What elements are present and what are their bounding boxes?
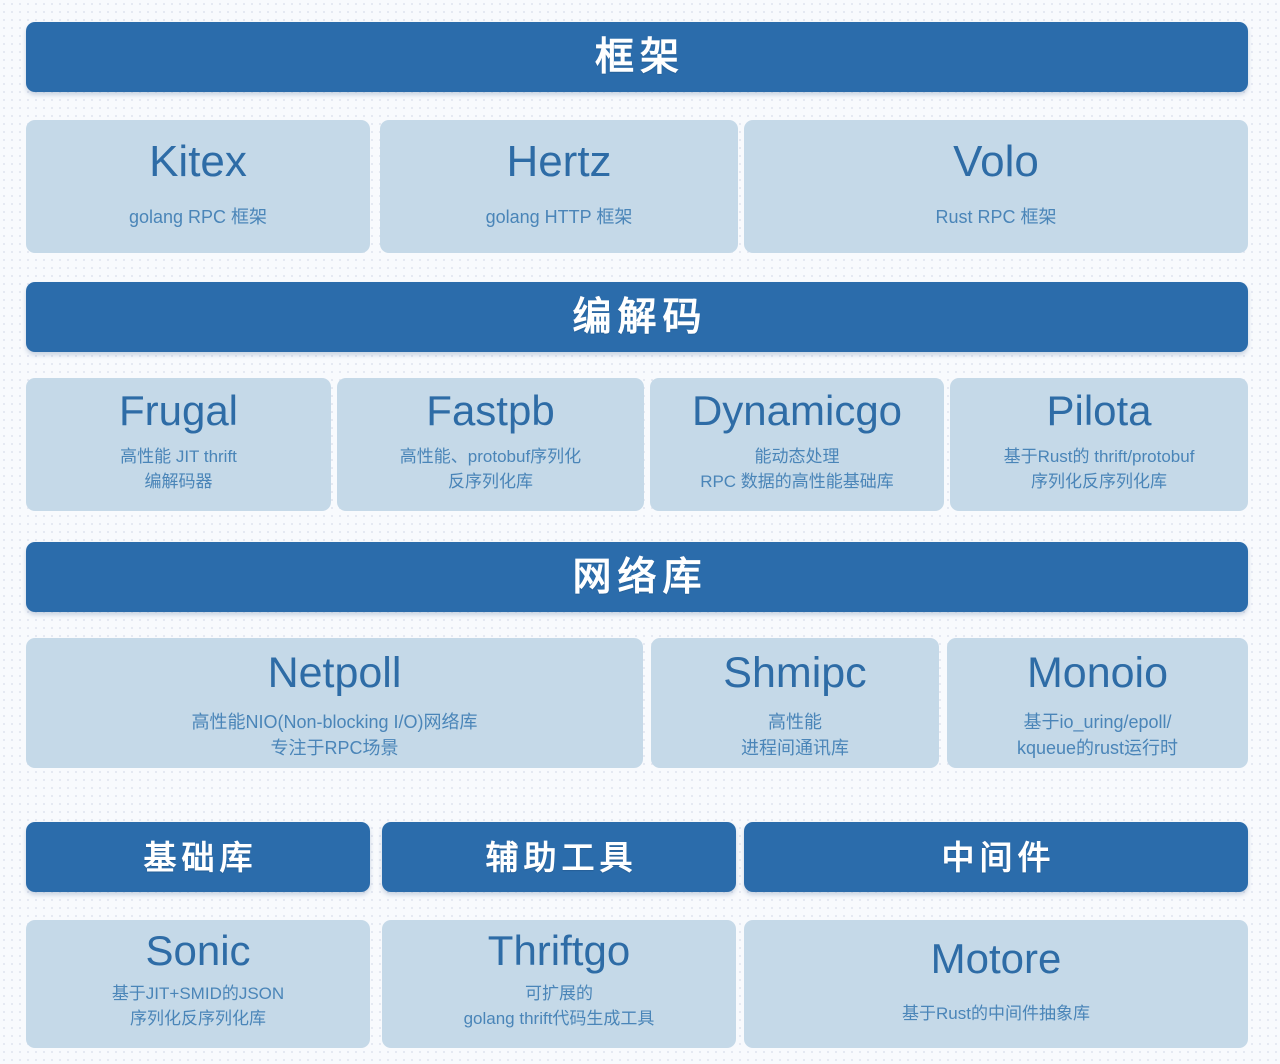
card-frugal[interactable]: Frugal 高性能 JIT thrift 编解码器 — [26, 378, 331, 511]
card-volo[interactable]: Volo Rust RPC 框架 — [744, 120, 1248, 253]
card-dynamicgo-title: Dynamicgo — [692, 390, 902, 432]
card-sonic[interactable]: Sonic 基于JIT+SMID的JSON 序列化反序列化库 — [26, 920, 370, 1048]
section-header-tools: 辅助工具 — [382, 822, 736, 892]
card-pilota-title: Pilota — [1046, 390, 1151, 432]
section-header-tools-label: 辅助工具 — [481, 841, 638, 874]
card-fastpb[interactable]: Fastpb 高性能、protobuf序列化 反序列化库 — [337, 378, 644, 511]
card-sonic-desc: 基于JIT+SMID的JSON 序列化反序列化库 — [112, 982, 284, 1031]
card-pilota-desc: 基于Rust的 thrift/protobuf 序列化反序列化库 — [1004, 445, 1195, 494]
section-header-middleware: 中间件 — [744, 822, 1248, 892]
card-frugal-title: Frugal — [119, 390, 238, 432]
card-hertz[interactable]: Hertz golang HTTP 框架 — [380, 120, 738, 253]
card-volo-title: Volo — [953, 140, 1039, 184]
card-netpoll-desc: 高性能NIO(Non-blocking I/O)网络库 专注于RPC场景 — [191, 709, 477, 761]
section-header-network: 网络库 — [26, 542, 1248, 612]
card-shmipc-desc: 高性能 进程间通讯库 — [741, 709, 849, 761]
card-shmipc-title: Shmipc — [723, 652, 866, 695]
card-monoio-desc: 基于io_uring/epoll/ kqueue的rust运行时 — [1017, 709, 1178, 761]
card-netpoll-title: Netpoll — [268, 652, 402, 695]
card-pilota[interactable]: Pilota 基于Rust的 thrift/protobuf 序列化反序列化库 — [950, 378, 1248, 511]
card-thriftgo[interactable]: Thriftgo 可扩展的 golang thrift代码生成工具 — [382, 920, 736, 1048]
card-motore-title: Motore — [931, 938, 1062, 980]
section-header-framework: 框架 — [26, 22, 1248, 92]
card-volo-desc: Rust RPC 框架 — [935, 204, 1056, 230]
card-thriftgo-desc: 可扩展的 golang thrift代码生成工具 — [464, 982, 655, 1031]
section-header-network-label: 网络库 — [566, 558, 707, 597]
card-motore-desc: 基于Rust的中间件抽象库 — [902, 1002, 1090, 1027]
section-header-codec: 编解码 — [26, 282, 1248, 352]
card-netpoll[interactable]: Netpoll 高性能NIO(Non-blocking I/O)网络库 专注于R… — [26, 638, 643, 768]
card-shmipc[interactable]: Shmipc 高性能 进程间通讯库 — [651, 638, 939, 768]
card-motore[interactable]: Motore 基于Rust的中间件抽象库 — [744, 920, 1248, 1048]
tech-stack-diagram: 框架 Kitex golang RPC 框架 Hertz golang HTTP… — [0, 0, 1280, 1064]
card-monoio[interactable]: Monoio 基于io_uring/epoll/ kqueue的rust运行时 — [947, 638, 1248, 768]
card-fastpb-title: Fastpb — [426, 390, 554, 432]
card-kitex-desc: golang RPC 框架 — [129, 204, 267, 230]
card-dynamicgo[interactable]: Dynamicgo 能动态处理 RPC 数据的高性能基础库 — [650, 378, 944, 511]
card-frugal-desc: 高性能 JIT thrift 编解码器 — [120, 445, 237, 494]
card-monoio-title: Monoio — [1027, 652, 1168, 695]
card-dynamicgo-desc: 能动态处理 RPC 数据的高性能基础库 — [700, 445, 894, 494]
card-kitex-title: Kitex — [149, 140, 247, 184]
section-header-base-library-label: 基础库 — [139, 841, 258, 874]
card-kitex[interactable]: Kitex golang RPC 框架 — [26, 120, 370, 253]
section-header-codec-label: 编解码 — [566, 298, 707, 337]
section-header-middleware-label: 中间件 — [937, 841, 1056, 874]
section-header-base-library: 基础库 — [26, 822, 370, 892]
card-sonic-title: Sonic — [145, 930, 250, 972]
card-fastpb-desc: 高性能、protobuf序列化 反序列化库 — [400, 445, 581, 494]
card-thriftgo-title: Thriftgo — [488, 930, 630, 972]
card-hertz-desc: golang HTTP 框架 — [486, 204, 633, 230]
card-hertz-title: Hertz — [506, 140, 611, 184]
section-header-framework-label: 框架 — [589, 38, 685, 77]
